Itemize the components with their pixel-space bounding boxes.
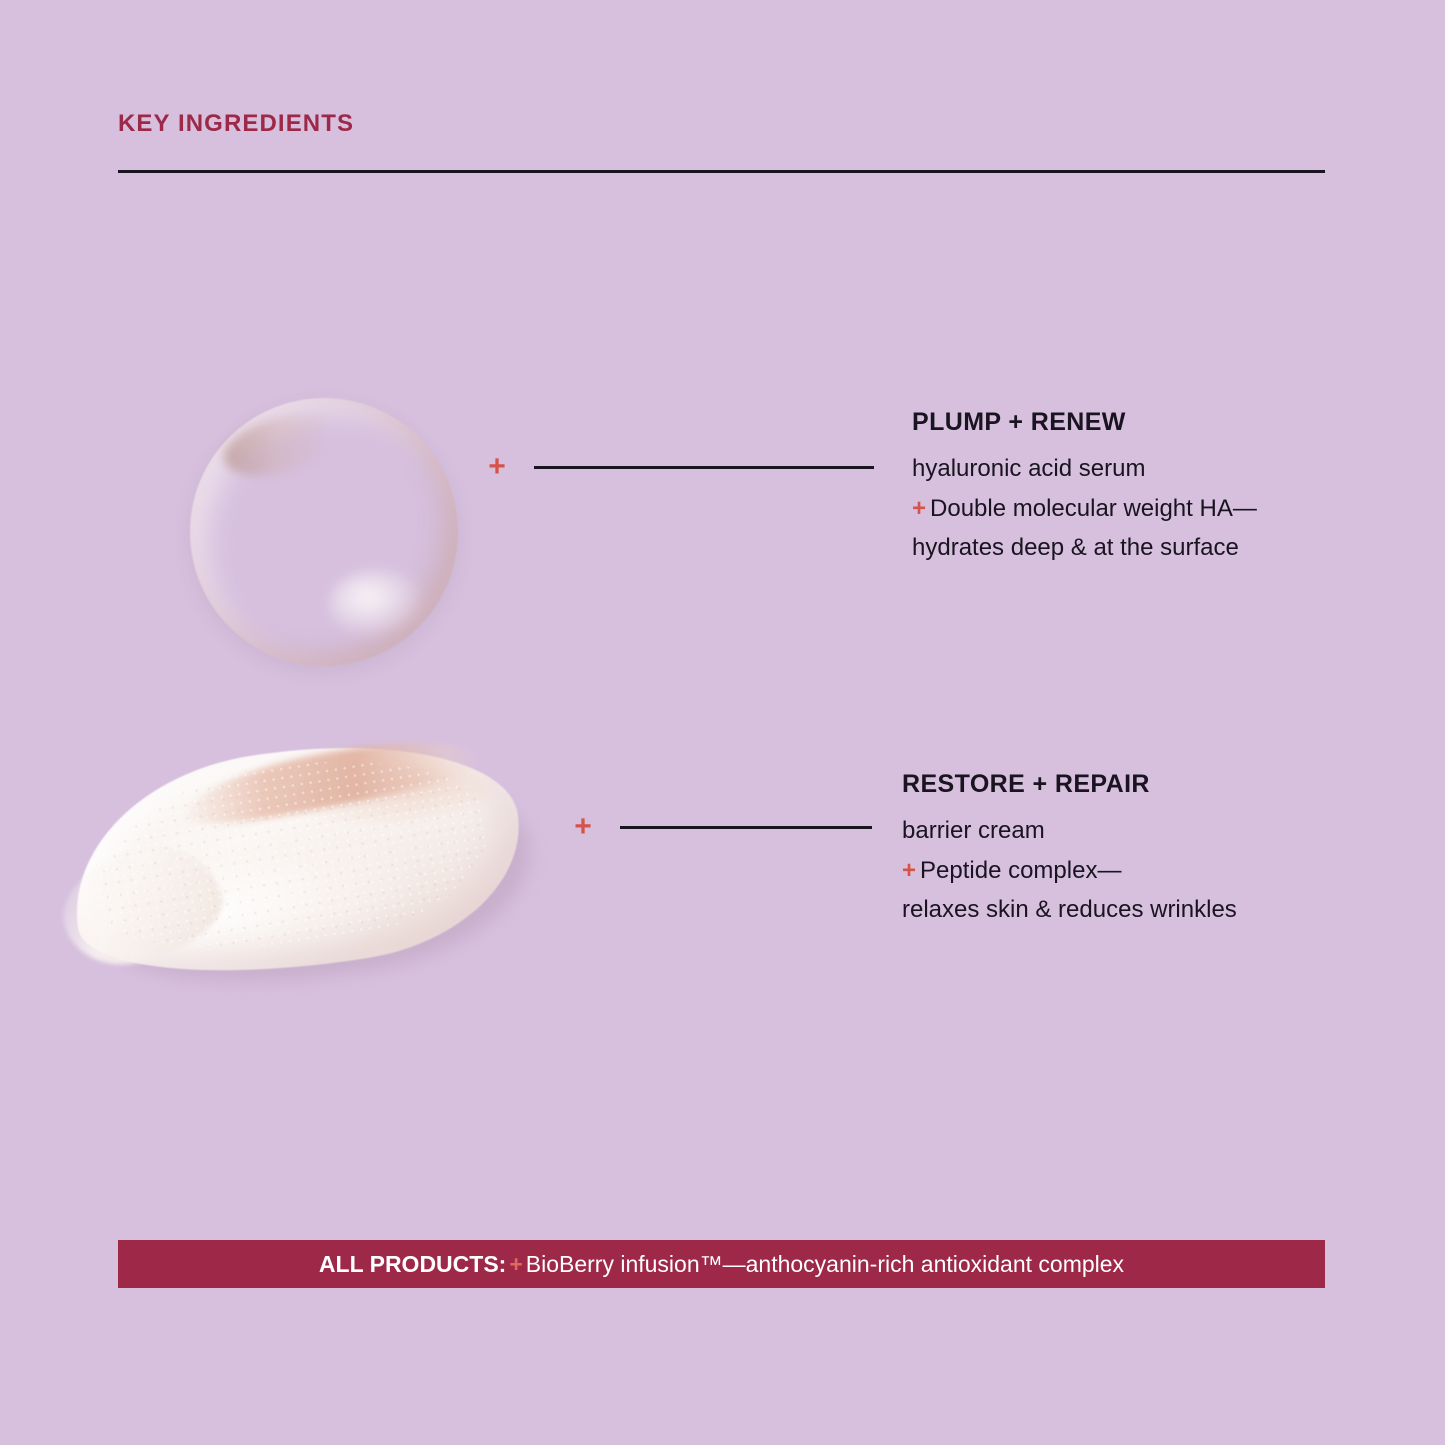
ingredient-benefit-line-1: +Double molecular weight HA—	[912, 489, 1257, 529]
ingredient-benefit-line-2: hydrates deep & at the surface	[912, 528, 1257, 568]
ingredient-info-serum: PLUMP + RENEW hyaluronic acid serum +Dou…	[912, 408, 1257, 568]
ingredient-info-cream: RESTORE + REPAIR barrier cream +Peptide …	[902, 770, 1237, 930]
ingredient-benefit-line-2: relaxes skin & reduces wrinkles	[902, 890, 1237, 930]
benefit-plus-icon: +	[902, 857, 916, 884]
plus-marker-icon: +	[484, 452, 510, 482]
ingredient-product: barrier cream	[902, 811, 1237, 851]
benefit-text: Double molecular weight HA—	[930, 495, 1257, 522]
serum-droplet-swatch	[190, 398, 458, 666]
ingredient-title: PLUMP + RENEW	[912, 408, 1257, 437]
connector-line	[534, 466, 874, 469]
ingredient-benefit-line-1: +Peptide complex—	[902, 851, 1237, 891]
banner-label: ALL PRODUCTS:	[319, 1251, 506, 1277]
cream-smear-swatch	[62, 730, 562, 1000]
connector-line	[620, 826, 872, 829]
banner-description: BioBerry infusion™—anthocyanin-rich anti…	[526, 1251, 1124, 1277]
connector-serum: +	[484, 452, 874, 482]
all-products-banner: ALL PRODUCTS:+BioBerry infusion™—anthocy…	[118, 1240, 1325, 1288]
ingredient-title: RESTORE + REPAIR	[902, 770, 1237, 799]
benefit-text: Peptide complex—	[920, 857, 1121, 884]
ingredient-product: hyaluronic acid serum	[912, 449, 1257, 489]
header-divider	[118, 170, 1325, 173]
page-title: KEY INGREDIENTS	[118, 112, 354, 136]
plus-marker-icon: +	[570, 812, 596, 842]
banner-text: ALL PRODUCTS:+BioBerry infusion™—anthocy…	[319, 1253, 1124, 1276]
ingredients-infographic: KEY INGREDIENTS + PLUMP + RENEW hyaluron…	[0, 0, 1445, 1445]
banner-plus-icon: +	[506, 1251, 525, 1277]
benefit-plus-icon: +	[912, 495, 926, 522]
connector-cream: +	[570, 812, 872, 842]
